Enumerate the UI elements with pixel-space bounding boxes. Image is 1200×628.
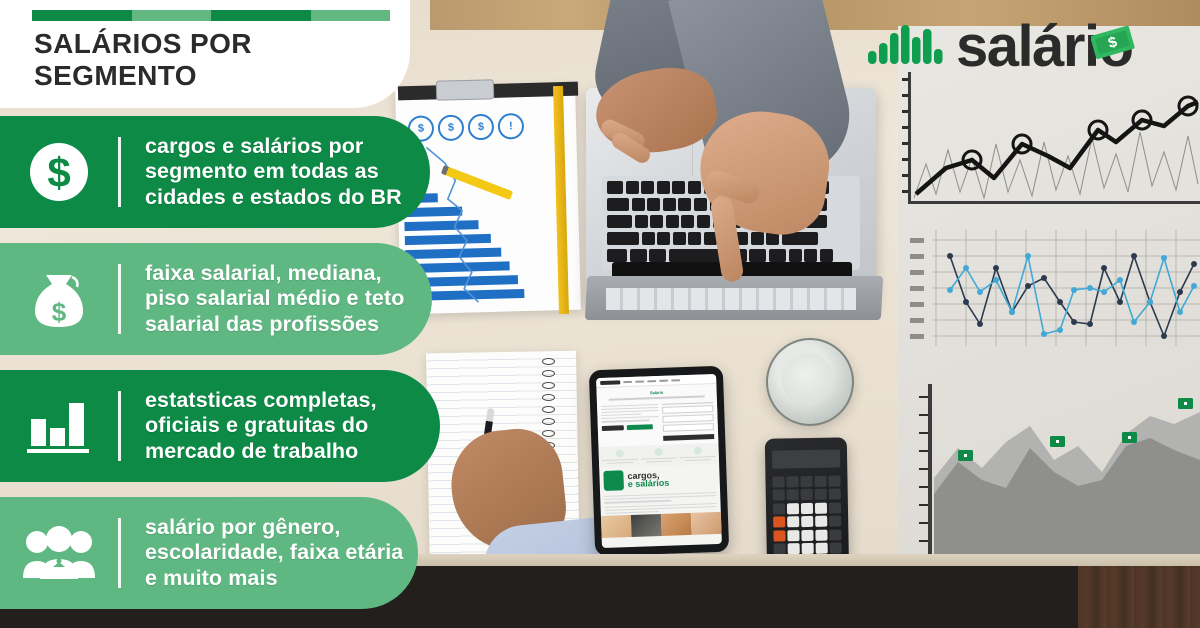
feature-item-faixa-salarial[interactable]: $ faixa salarial, mediana, piso salarial… [0,243,432,355]
bar-chart-icon [0,395,118,457]
feature-text: faixa salarial, mediana, piso salarial m… [121,261,432,337]
clipboard-clamp [436,79,495,101]
title-stripe-decoration [32,10,390,21]
equalizer-bars-icon [868,23,946,71]
tablet-site-logo [600,380,620,385]
banknote-icon: $ [1091,24,1137,64]
feature-item-estatisticas[interactable]: estatsticas completas, oficiais e gratui… [0,370,440,482]
feature-text: cargos e salários por segmento em todas … [121,134,430,210]
tablet-device: Salário [589,366,729,557]
mountain-area-chart [906,376,1200,572]
tablet-heading-line2: e salários [628,479,670,489]
wood-floor [1078,566,1200,628]
title-card: SALÁRIOS POR SEGMENTO [0,0,410,108]
laptop-screen-reflection [606,288,856,310]
money-bag-icon: $ [0,267,118,331]
page-title: SALÁRIOS POR SEGMENTO [34,28,394,92]
water-glass-inner [782,354,834,406]
dual-series-line-chart [908,224,1200,356]
water-glass [766,338,854,426]
trend-line-chart [902,72,1200,214]
dollar-circle-icon: $ [0,141,118,203]
salario-banner: $ $ $ ! [0,0,1200,628]
calculator-display [772,449,840,468]
brand-logo[interactable]: salário $ [868,18,1133,76]
feature-item-cargos[interactable]: $ cargos e salários por segmento em toda… [0,116,430,228]
svg-text:$: $ [47,149,70,196]
people-group-icon [0,526,118,580]
feature-text: estatsticas completas, oficiais e gratui… [121,388,440,464]
calculator-keypad [772,475,841,554]
feature-item-genero[interactable]: salário por gênero, escolaridade, faixa … [0,497,418,609]
tablet-screen: Salário [596,374,722,548]
feature-text: salário por gênero, escolaridade, faixa … [121,515,418,591]
wall-chart-panel [898,26,1200,572]
svg-text:$: $ [52,297,67,327]
tablet-food-images [601,512,722,538]
